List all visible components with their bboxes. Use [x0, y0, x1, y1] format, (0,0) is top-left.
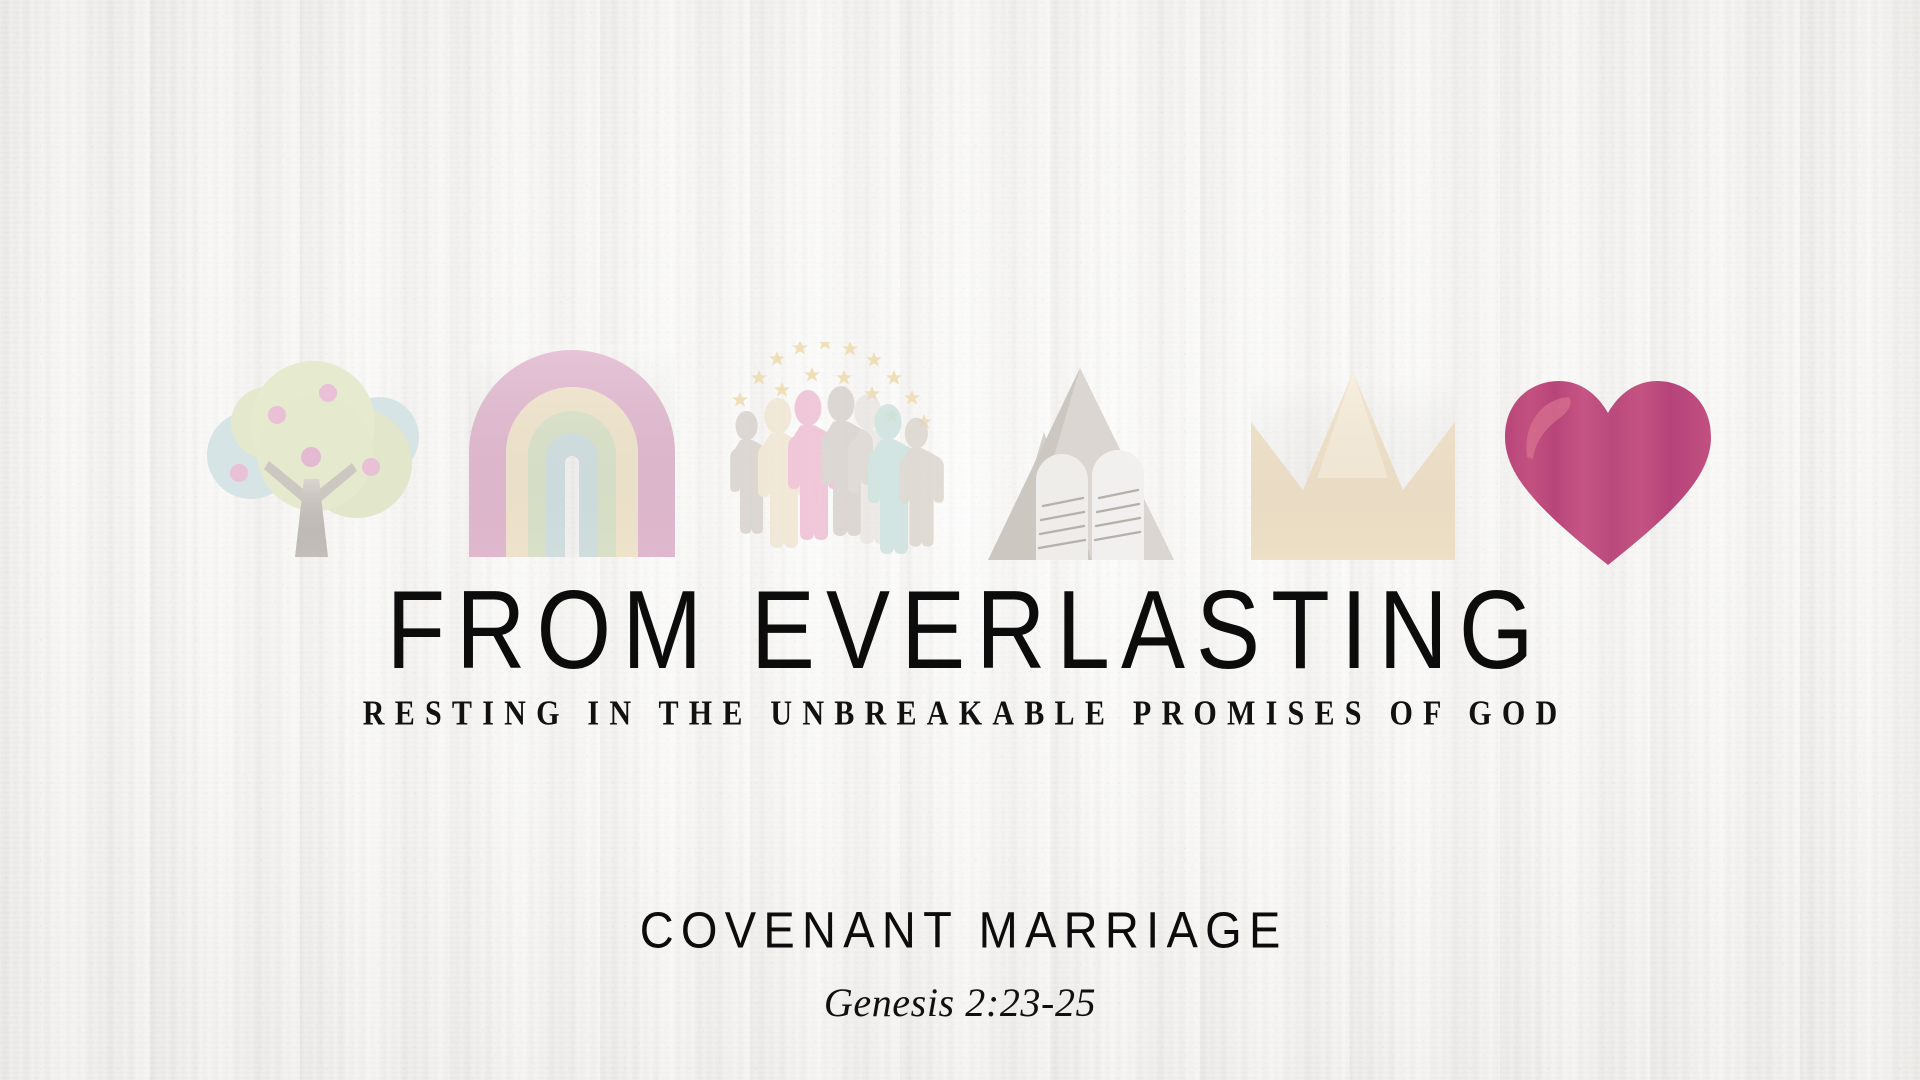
people-stars-icon: [722, 340, 944, 570]
rainbow-icon: [466, 340, 678, 570]
page-subtitle: RESTING IN THE UNBREAKABLE PROMISES OF G…: [29, 693, 1891, 733]
series-title: COVENANT MARRIAGE: [0, 900, 1920, 959]
page-title: FROM EVERLASTING: [0, 575, 1920, 686]
scripture-reference: Genesis 2:23-25: [0, 979, 1920, 1026]
heart-icon: [1503, 340, 1713, 570]
slide-canvas: FROM EVERLASTING RESTING IN THE UNBREAKA…: [0, 0, 1920, 1080]
title-block: FROM EVERLASTING RESTING IN THE UNBREAKA…: [0, 575, 1920, 729]
mountain-tablets-icon: [988, 340, 1203, 570]
footer-block: COVENANT MARRIAGE Genesis 2:23-25: [0, 900, 1920, 1026]
icon-row: [0, 340, 1920, 570]
crown-icon: [1247, 340, 1459, 570]
tree-icon: [207, 340, 422, 570]
